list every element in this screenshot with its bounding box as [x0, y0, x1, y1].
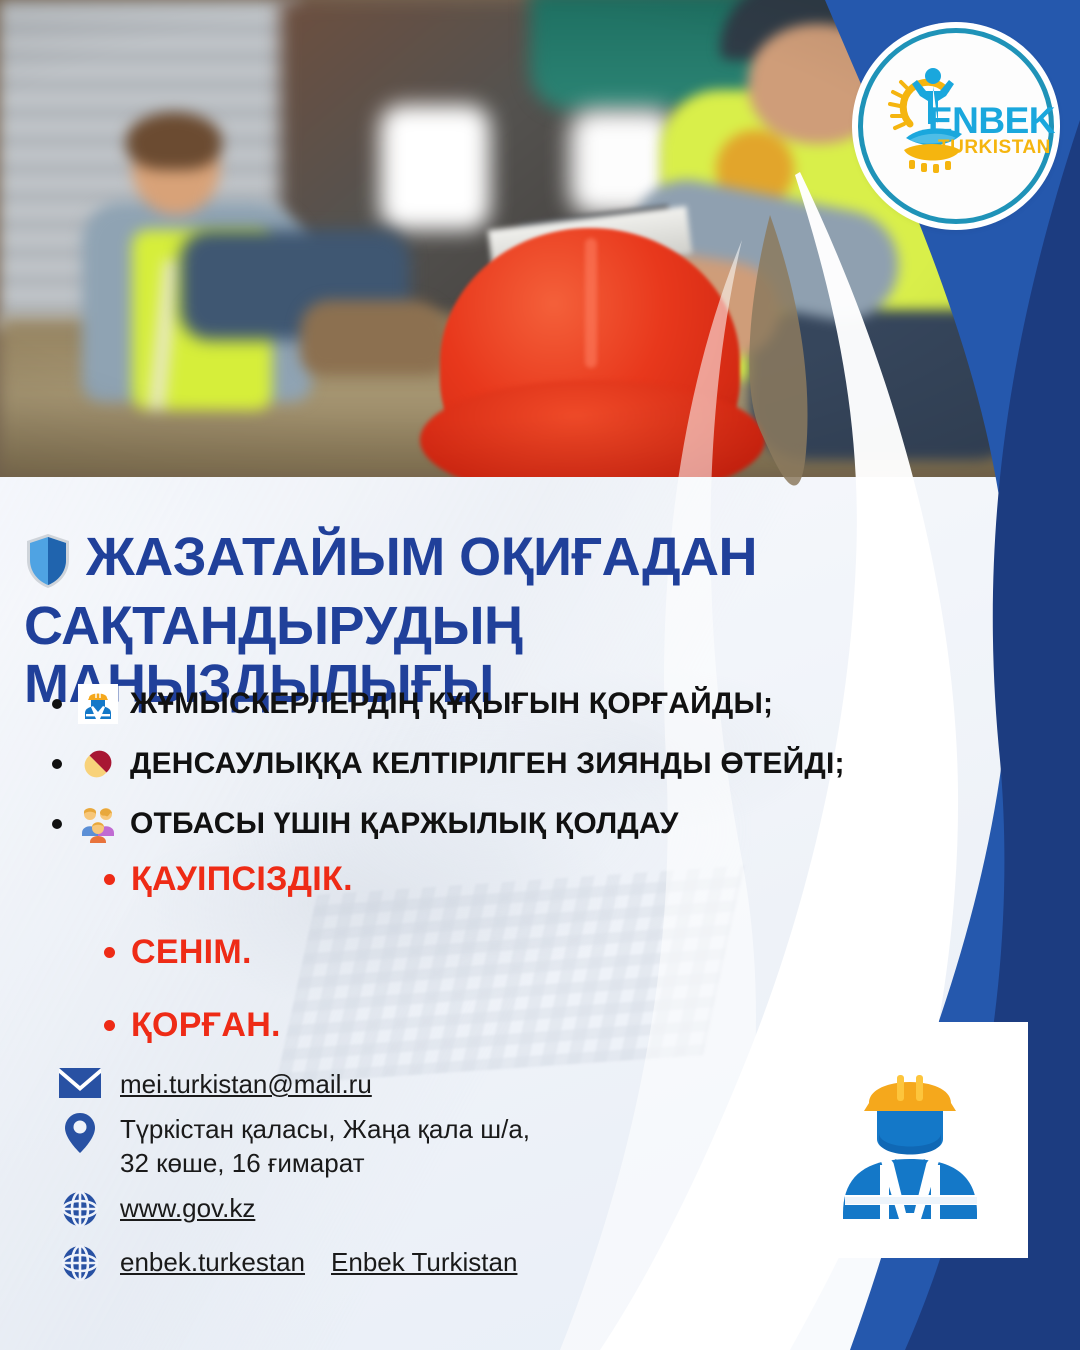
- benefit-label: ОТБАСЫ ҮШІН ҚАРЖЫЛЫҚ ҚОЛДАУ: [130, 807, 679, 841]
- bullet-dot: [52, 819, 62, 829]
- benefit-label: ДЕНСАУЛЫҚҚА КЕЛТІРІЛГЕН ЗИЯНДЫ ӨТЕЙДІ;: [130, 747, 845, 781]
- contact-block: mei.turkistan@mail.ru Түркістан қаласы, …: [58, 1066, 678, 1292]
- worker-figure-icon: [817, 1047, 1003, 1233]
- envelope-icon: [58, 1066, 102, 1100]
- logo-title-primary: ENBEK: [928, 102, 1055, 139]
- construction-worker-icon: [78, 684, 118, 724]
- construction-worker-illustration: [792, 1022, 1028, 1258]
- bullet-dot: [104, 874, 115, 885]
- contact-website-row[interactable]: www.gov.kz: [58, 1190, 678, 1228]
- keyword-item: СЕНІМ.: [104, 933, 724, 972]
- enbek-turkistan-logo[interactable]: ENBEK TURKISTAN: [858, 28, 1054, 224]
- contact-address-row: Түркістан қаласы, Жаңа қала ш/а, 32 көше…: [58, 1111, 678, 1180]
- logo-title-secondary: TURKISTAN: [938, 138, 1051, 157]
- globe-icon: [58, 1190, 102, 1228]
- benefit-label: ЖҰМЫСКЕРЛЕРДІҢ ҚҰҚЫҒЫН ҚОРҒАЙДЫ;: [130, 687, 773, 721]
- contact-email-value[interactable]: mei.turkistan@mail.ru: [120, 1066, 372, 1101]
- contact-social-handle[interactable]: enbek.turkestan: [120, 1246, 305, 1279]
- benefit-item: ЖҰМЫСКЕРЛЕРДІҢ ҚҰҚЫҒЫН ҚОРҒАЙДЫ;: [52, 682, 932, 726]
- contact-address-line-2: 32 көше, 16 ғимарат: [120, 1148, 365, 1178]
- page-title-line-1: ЖАЗАТАЙЫМ ОҚИҒАДАН: [86, 527, 757, 587]
- keyword-item: ҚОРҒАН.: [104, 1006, 724, 1045]
- keyword-label: СЕНІМ.: [131, 933, 252, 972]
- globe-icon: [58, 1244, 102, 1282]
- contact-website-value[interactable]: www.gov.kz: [120, 1190, 255, 1225]
- benefits-list: ЖҰМЫСКЕРЛЕРДІҢ ҚҰҚЫҒЫН ҚОРҒАЙДЫ; ДЕНСАУЛ…: [52, 682, 932, 862]
- keyword-label: ҚОРҒАН.: [131, 1006, 281, 1045]
- keywords-list: ҚАУІПСІЗДІК. СЕНІМ. ҚОРҒАН.: [104, 860, 724, 1079]
- keyword-item: ҚАУІПСІЗДІК.: [104, 860, 724, 899]
- bullet-dot: [104, 1020, 115, 1031]
- contact-email-row[interactable]: mei.turkistan@mail.ru: [58, 1066, 678, 1101]
- contact-address-value: Түркістан қаласы, Жаңа қала ш/а, 32 көше…: [120, 1111, 530, 1180]
- family-icon: [78, 804, 118, 844]
- benefit-item: ДЕНСАУЛЫҚҚА КЕЛТІРІЛГЕН ЗИЯНДЫ ӨТЕЙДІ;: [52, 742, 932, 786]
- pill-icon: [78, 744, 118, 784]
- bullet-dot: [52, 759, 62, 769]
- contact-social-page-name[interactable]: Enbek Turkistan: [331, 1246, 517, 1279]
- poster-canvas: ENBEK TURKISTAN ЖАЗАТАЙЫМ ОҚИҒАДАН САҚТА…: [0, 0, 1080, 1350]
- bullet-dot: [52, 699, 62, 709]
- benefit-item: ОТБАСЫ ҮШІН ҚАРЖЫЛЫҚ ҚОЛДАУ: [52, 802, 932, 846]
- contact-address-line-1: Түркістан қаласы, Жаңа қала ш/а,: [120, 1114, 530, 1144]
- contact-social-row[interactable]: enbek.turkestan Enbek Turkistan: [58, 1244, 678, 1282]
- map-pin-icon: [58, 1111, 102, 1155]
- keyword-label: ҚАУІПСІЗДІК.: [131, 860, 353, 899]
- bullet-dot: [104, 947, 115, 958]
- shield-icon: [24, 532, 72, 595]
